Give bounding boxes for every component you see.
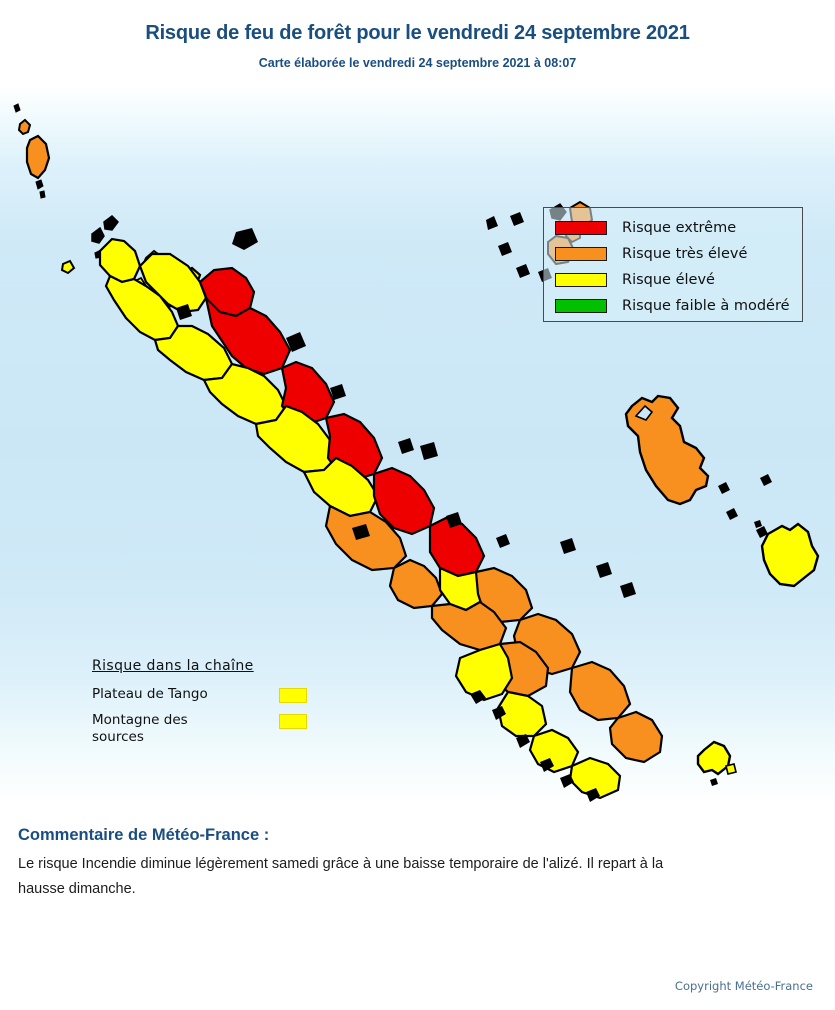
page-title: Risque de feu de forêt pour le vendredi … bbox=[0, 22, 835, 45]
map-panel[interactable]: Risque extrême Risque très élevé Risque … bbox=[0, 86, 835, 805]
map-region-mare[interactable] bbox=[762, 524, 818, 586]
map-region-yate[interactable] bbox=[610, 712, 662, 762]
copyright-text: Copyright Météo-France bbox=[675, 979, 813, 993]
map-region-houailou-extreme[interactable] bbox=[430, 518, 484, 576]
chain-risk-swatch-sources bbox=[279, 714, 307, 729]
legend-swatch-extreme bbox=[555, 221, 607, 235]
map-islets-loyalty bbox=[718, 474, 772, 538]
legend-label-eleve: Risque élevé bbox=[622, 272, 715, 288]
legend-swatch-faible-modere bbox=[555, 299, 607, 313]
legend-label-extreme: Risque extrême bbox=[622, 220, 736, 236]
legend-swatch-tres-eleve bbox=[555, 247, 607, 261]
map-region-ile-des-pins[interactable] bbox=[698, 742, 736, 786]
page-subtitle: Carte élaborée le vendredi 24 septembre … bbox=[0, 56, 835, 70]
chain-risk-title: Risque dans la chaîne bbox=[92, 658, 307, 674]
map-region-paita[interactable] bbox=[456, 644, 512, 700]
legend-swatch-eleve bbox=[555, 273, 607, 287]
header: Risque de feu de forêt pour le vendredi … bbox=[0, 0, 835, 86]
map-region-lifou[interactable] bbox=[626, 396, 708, 504]
commentary-body: Le risque Incendie diminue légèrement sa… bbox=[18, 852, 708, 902]
map-region-belep-islands[interactable] bbox=[14, 104, 49, 198]
legend-label-tres-eleve: Risque très élevé bbox=[622, 246, 747, 262]
risk-legend: Risque extrême Risque très élevé Risque … bbox=[543, 207, 803, 322]
chain-risk-block: Risque dans la chaîne Plateau de Tango M… bbox=[92, 658, 307, 755]
chain-risk-row-sources[interactable]: Montagne des sources bbox=[92, 712, 307, 746]
map-region-boulouparis[interactable] bbox=[570, 662, 630, 720]
chain-risk-label-sources: Montagne des sources bbox=[92, 712, 242, 746]
legend-row-tres-eleve[interactable]: Risque très élevé bbox=[544, 241, 802, 267]
chain-risk-label-tango: Plateau de Tango bbox=[92, 686, 208, 703]
map-region-poum[interactable] bbox=[100, 239, 140, 282]
legend-row-eleve[interactable]: Risque élevé bbox=[544, 267, 802, 293]
map-region-noumea[interactable] bbox=[530, 730, 578, 772]
legend-row-extreme[interactable]: Risque extrême bbox=[544, 215, 802, 241]
commentary-heading: Commentaire de Météo-France : bbox=[18, 826, 269, 845]
legend-row-faible-modere[interactable]: Risque faible à modéré bbox=[544, 293, 802, 319]
collaboration-note: La carte de prévision des risques de feu… bbox=[24, 804, 624, 805]
map-region-bourail[interactable] bbox=[390, 560, 442, 608]
map-page: Risque de feu de forêt pour le vendredi … bbox=[0, 0, 835, 1010]
legend-label-faible-modere: Risque faible à modéré bbox=[622, 298, 790, 314]
chain-risk-row-tango[interactable]: Plateau de Tango bbox=[92, 686, 307, 703]
chain-risk-swatch-tango bbox=[279, 688, 307, 703]
